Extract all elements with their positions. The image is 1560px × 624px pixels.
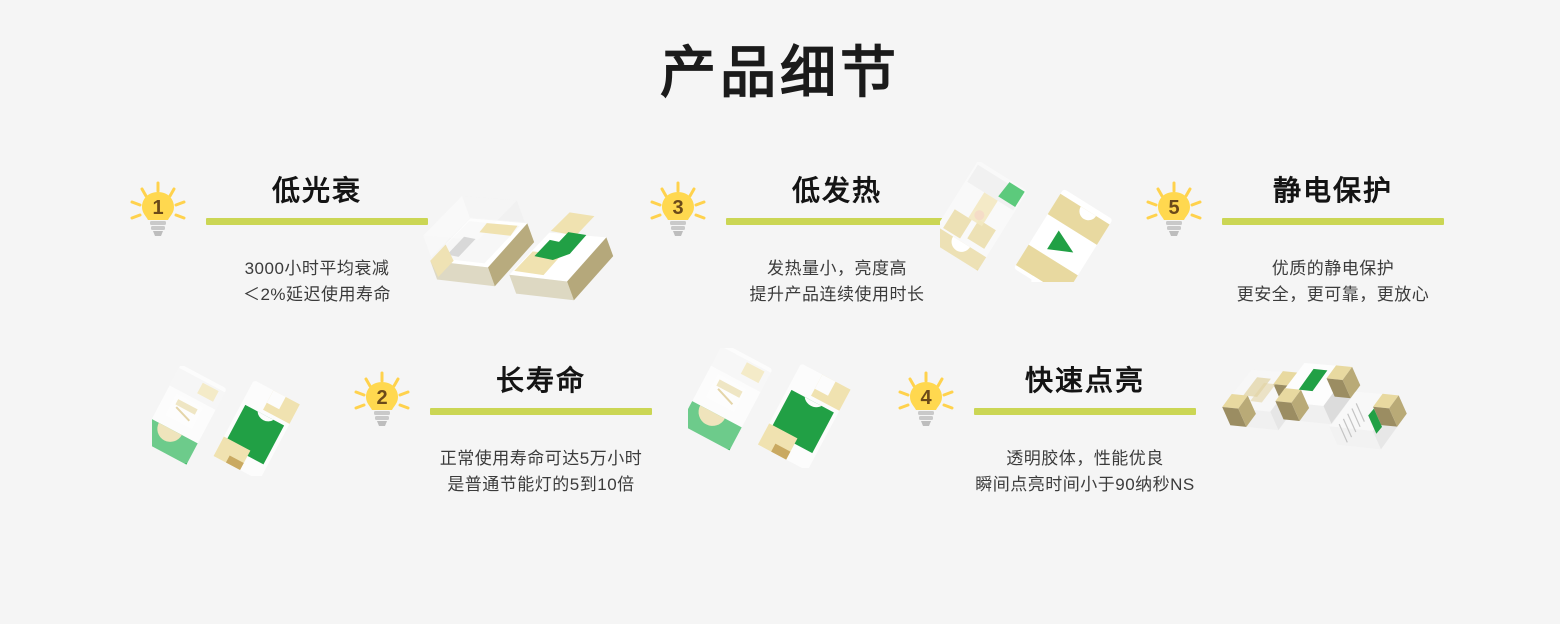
description-line-2: 提升产品连续使用时长 xyxy=(692,282,982,308)
heading-underline xyxy=(726,218,948,225)
lightbulb-icon: 1 xyxy=(128,180,188,244)
page-title: 产品细节 xyxy=(0,42,1560,104)
feature-number: 5 xyxy=(1168,197,1179,219)
heading-underline xyxy=(974,408,1196,415)
heading-underline xyxy=(430,408,652,415)
feature-number: 2 xyxy=(376,387,387,409)
lightbulb-icon: 5 xyxy=(1144,180,1204,244)
smd-led-pair-bottom-left xyxy=(152,366,332,476)
product-detail-infographic: 产品细节 xyxy=(0,0,1560,624)
feature-heading: 低光衰 xyxy=(206,174,428,208)
feature-description: 正常使用寿命可达5万小时 是普通节能灯的5到10倍 xyxy=(396,446,686,498)
feature-number: 1 xyxy=(152,197,163,219)
smd-led-pair-top-left xyxy=(418,186,628,306)
smd-led-pair-top-middle xyxy=(940,162,1130,282)
feature-description: 优质的静电保护 更安全，更可靠，更放心 xyxy=(1188,256,1478,308)
description-line-2: 更安全，更可靠，更放心 xyxy=(1188,282,1478,308)
heading-underline xyxy=(1222,218,1444,225)
heading-underline xyxy=(206,218,428,225)
feature-heading: 快速点亮 xyxy=(974,364,1196,398)
feature-number: 4 xyxy=(920,387,932,409)
description-line-1: 透明胶体，性能优良 xyxy=(940,446,1230,472)
feature-description: 发热量小，亮度高 提升产品连续使用时长 xyxy=(692,256,982,308)
feature-number: 3 xyxy=(672,197,683,219)
description-line-1: 正常使用寿命可达5万小时 xyxy=(396,446,686,472)
lightbulb-icon: 4 xyxy=(896,370,956,434)
lightbulb-icon: 2 xyxy=(352,370,412,434)
description-line-2: 是普通节能灯的5到10倍 xyxy=(396,472,686,498)
feature-heading: 低发热 xyxy=(726,174,948,208)
feature-description: 透明胶体，性能优良 瞬间点亮时间小于90纳秒NS xyxy=(940,446,1230,498)
description-line-1: 发热量小，亮度高 xyxy=(692,256,982,282)
lightbulb-icon: 3 xyxy=(648,180,708,244)
smd-led-pair-bottom-mid xyxy=(688,348,888,468)
smd-led-trio-bottom-right xyxy=(1218,348,1418,468)
feature-heading: 静电保护 xyxy=(1222,174,1444,208)
description-line-1: 优质的静电保护 xyxy=(1188,256,1478,282)
feature-heading: 长寿命 xyxy=(430,364,652,398)
description-line-2: 瞬间点亮时间小于90纳秒NS xyxy=(940,472,1230,498)
